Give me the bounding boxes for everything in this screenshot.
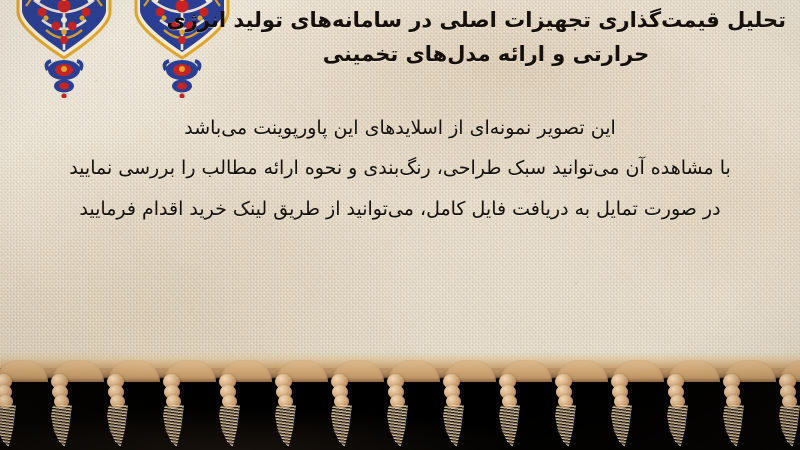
fringe-knot xyxy=(162,360,218,450)
slide-title-line-2: حرارتی و ارائه مدل‌های تخمینی xyxy=(186,38,786,71)
slide-text-layer: تحلیل قیمت‌گذاری تجهیزات اصلی در سامانه‌… xyxy=(0,0,800,368)
fringe-knot xyxy=(330,360,386,450)
slide-title-line-1: تحلیل قیمت‌گذاری تجهیزات اصلی در سامانه‌… xyxy=(186,4,786,37)
fringe-knot xyxy=(554,360,610,450)
presentation-slide: تحلیل قیمت‌گذاری تجهیزات اصلی در سامانه‌… xyxy=(0,0,800,450)
slide-body-line-2: با مشاهده آن می‌توانید سبک طراحی، رنگ‌بن… xyxy=(16,148,784,188)
fringe-knot xyxy=(666,360,722,450)
fringe-knot xyxy=(218,360,274,450)
fringe-knot xyxy=(386,360,442,450)
slide-title: تحلیل قیمت‌گذاری تجهیزات اصلی در سامانه‌… xyxy=(186,4,786,70)
fringe-knot xyxy=(498,360,554,450)
fringe-knot xyxy=(778,360,800,450)
fringe-knot xyxy=(0,360,50,450)
fringe-knot xyxy=(722,360,778,450)
slide-body-line-3: در صورت تمایل به دریافت فایل کامل، می‌تو… xyxy=(16,189,784,229)
fringe-knot xyxy=(442,360,498,450)
fringe-knot xyxy=(106,360,162,450)
carpet-fringe-tassels xyxy=(0,360,800,450)
fringe-knot xyxy=(610,360,666,450)
fringe-knot xyxy=(274,360,330,450)
slide-body-line-1: این تصویر نمونه‌ای از اسلایدهای این پاور… xyxy=(16,108,784,148)
slide-body: این تصویر نمونه‌ای از اسلایدهای این پاور… xyxy=(16,108,784,229)
fringe-knot xyxy=(50,360,106,450)
